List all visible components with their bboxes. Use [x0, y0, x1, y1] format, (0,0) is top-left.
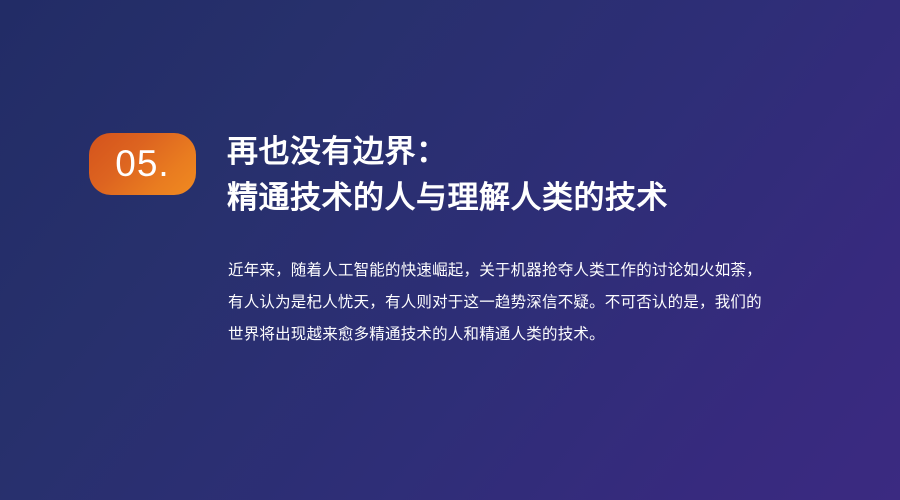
body-line-3: 世界将出现越来愈多精通技术的人和精通人类的技术。	[228, 319, 838, 351]
headline-line-2: 精通技术的人与理解人类的技术	[227, 175, 867, 221]
headline-line-1: 再也没有边界：	[227, 129, 867, 175]
body-line-1: 近年来，随着人工智能的快速崛起，关于机器抢夺人类工作的讨论如火如荼，	[228, 255, 838, 287]
body-line-2: 有人认为是杞人忧天，有人则对于这一趋势深信不疑。不可否认的是，我们的	[228, 287, 838, 319]
section-number-badge: 05.	[89, 133, 196, 195]
section-number-label: 05.	[115, 145, 169, 182]
headline-block: 再也没有边界： 精通技术的人与理解人类的技术	[227, 129, 867, 221]
slide-canvas: 05. 再也没有边界： 精通技术的人与理解人类的技术 近年来，随着人工智能的快速…	[0, 0, 900, 500]
body-paragraph: 近年来，随着人工智能的快速崛起，关于机器抢夺人类工作的讨论如火如荼， 有人认为是…	[228, 255, 838, 351]
